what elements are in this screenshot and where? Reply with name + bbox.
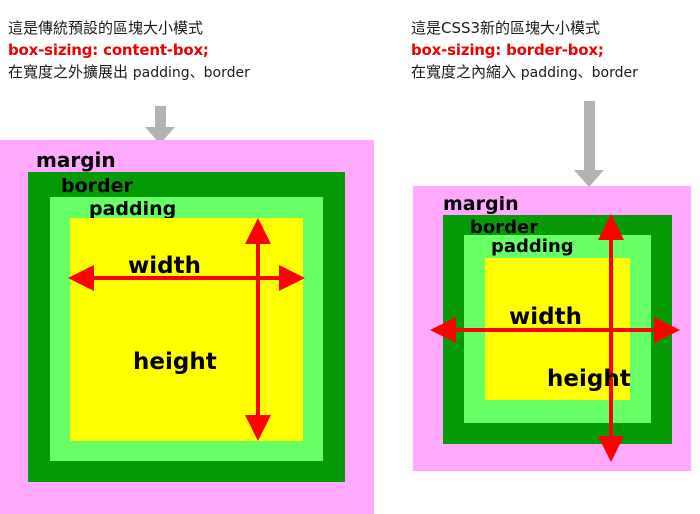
caption-right-code: box-sizing: border-box; bbox=[411, 40, 638, 62]
caption-left-code: box-sizing: content-box; bbox=[8, 40, 250, 62]
width-arrow-tip-left bbox=[430, 317, 456, 343]
width-arrow-tip-right bbox=[654, 317, 680, 343]
arrow-shaft bbox=[155, 106, 166, 128]
height-arrow-tip-down bbox=[598, 436, 624, 462]
padding-label: padding bbox=[491, 238, 574, 256]
caption-right-line3-tail: padding、border bbox=[521, 65, 638, 81]
margin-label: margin bbox=[443, 195, 519, 214]
border-label: border bbox=[61, 177, 133, 196]
down-arrow-icon-right bbox=[574, 101, 604, 187]
arrow-head bbox=[574, 170, 604, 187]
content-layer bbox=[70, 218, 303, 441]
height-arrow-bar bbox=[609, 221, 613, 456]
caption-content-box: 這是傳統預設的區塊大小模式 box-sizing: content-box; 在… bbox=[8, 18, 250, 83]
margin-label: margin bbox=[36, 150, 116, 170]
padding-label: padding bbox=[89, 200, 176, 219]
arrow-shaft bbox=[584, 101, 595, 171]
height-arrow-tip-up bbox=[245, 218, 271, 244]
box-model-diagram-border-box: margin border padding width height bbox=[413, 186, 691, 471]
height-arrow-bar bbox=[256, 224, 260, 437]
width-arrow-tip-left bbox=[68, 265, 94, 291]
caption-border-box: 這是CSS3新的區塊大小模式 box-sizing: border-box; 在… bbox=[411, 18, 638, 83]
width-label: width bbox=[509, 306, 582, 329]
caption-right-line3-prefix: 在寬度之內縮入 bbox=[411, 63, 521, 81]
width-arrow-tip-right bbox=[279, 265, 305, 291]
box-model-diagram-content-box: margin border padding width height bbox=[0, 140, 374, 514]
caption-right-line3: 在寬度之內縮入 padding、border bbox=[411, 62, 638, 84]
width-label: width bbox=[128, 255, 201, 278]
height-label: height bbox=[547, 368, 631, 391]
down-arrow-icon-left bbox=[145, 106, 175, 144]
height-label: height bbox=[133, 351, 217, 374]
caption-left-line3-tail: padding、border bbox=[133, 65, 250, 81]
height-arrow-tip-down bbox=[245, 415, 271, 441]
caption-left-line3-prefix: 在寬度之外擴展出 bbox=[8, 63, 133, 81]
caption-left-line1: 這是傳統預設的區塊大小模式 bbox=[8, 18, 250, 40]
height-arrow-tip-up bbox=[598, 214, 624, 240]
caption-left-line3: 在寬度之外擴展出 padding、border bbox=[8, 62, 250, 84]
caption-right-line1: 這是CSS3新的區塊大小模式 bbox=[411, 18, 638, 40]
